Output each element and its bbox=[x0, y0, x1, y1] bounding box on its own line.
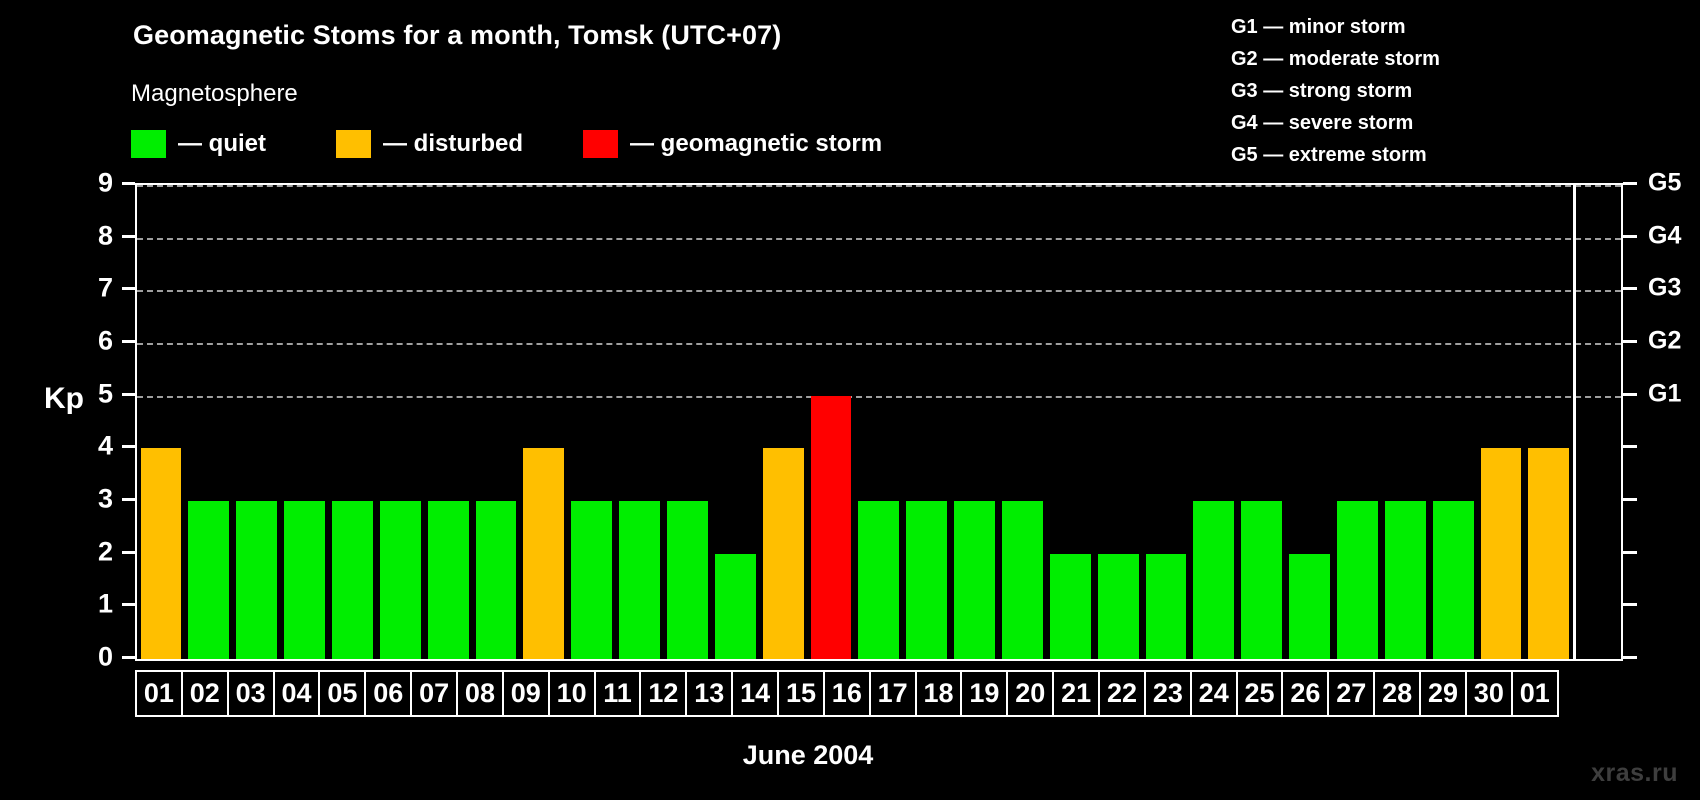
y-tick-mark-5 bbox=[122, 393, 135, 396]
date-cell-16-15[interactable]: 16 bbox=[823, 670, 871, 717]
date-cell-22-21[interactable]: 22 bbox=[1098, 670, 1146, 717]
date-cell-28-27[interactable]: 28 bbox=[1373, 670, 1421, 717]
bar-day-10 bbox=[571, 501, 612, 659]
y-tick-label-5: 5 bbox=[98, 380, 113, 407]
bar-series bbox=[137, 185, 1621, 659]
bar-slot-day-13 bbox=[711, 185, 759, 659]
date-cell-20-19[interactable]: 20 bbox=[1006, 670, 1054, 717]
date-axis: 0102030405060708091011121314151617181920… bbox=[135, 670, 1623, 717]
bar-slot-day-07 bbox=[424, 185, 472, 659]
bar-day-14 bbox=[763, 448, 804, 659]
g-axis-label-G3: G3 bbox=[1648, 276, 1681, 301]
date-cell-07-6[interactable]: 07 bbox=[410, 670, 458, 717]
date-cell-18-17[interactable]: 18 bbox=[915, 670, 963, 717]
chart-plot-area bbox=[135, 183, 1623, 661]
gscale-line-1: G1 — minor storm bbox=[1231, 11, 1440, 43]
y-tick-label-4: 4 bbox=[98, 433, 113, 460]
y-tick-label-7: 7 bbox=[98, 275, 113, 302]
bar-slot-day-30 bbox=[1525, 185, 1573, 659]
g-axis-tick-kp-6 bbox=[1623, 340, 1637, 343]
bar-day-13 bbox=[715, 554, 756, 659]
g-axis-label-G5: G5 bbox=[1648, 171, 1681, 196]
bar-day-22 bbox=[1146, 554, 1187, 659]
bar-slot-day-10 bbox=[568, 185, 616, 659]
bar-slot-day-23 bbox=[1190, 185, 1238, 659]
bar-day-27 bbox=[1385, 501, 1426, 659]
bar-day-29 bbox=[1481, 448, 1522, 659]
bar-slot-day-17 bbox=[903, 185, 951, 659]
bar-slot-day-02 bbox=[185, 185, 233, 659]
g-scale-axis: G1G2G3G4G5 bbox=[1623, 183, 1700, 661]
bar-day-28 bbox=[1433, 501, 1474, 659]
bar-slot-day-14 bbox=[759, 185, 807, 659]
date-cell-01-30[interactable]: 01 bbox=[1511, 670, 1559, 717]
bar-day-03 bbox=[236, 501, 277, 659]
g-axis-label-G1: G1 bbox=[1648, 381, 1681, 406]
date-cell-13-12[interactable]: 13 bbox=[685, 670, 733, 717]
bar-slot-day-01 bbox=[137, 185, 185, 659]
bar-slot-day-25 bbox=[1286, 185, 1334, 659]
date-cell-10-9[interactable]: 10 bbox=[548, 670, 596, 717]
date-cell-17-16[interactable]: 17 bbox=[869, 670, 917, 717]
bar-day-04 bbox=[284, 501, 325, 659]
plot-inner bbox=[137, 185, 1621, 659]
g-axis-tick-kp-1 bbox=[1623, 603, 1637, 606]
legend-swatch-storm bbox=[583, 130, 618, 158]
bar-slot-day-19 bbox=[998, 185, 1046, 659]
y-tick-mark-2 bbox=[122, 551, 135, 554]
date-cell-30-29[interactable]: 30 bbox=[1465, 670, 1513, 717]
y-tick-mark-8 bbox=[122, 235, 135, 238]
bar-day-07 bbox=[428, 501, 469, 659]
legend-label-disturbed: — disturbed bbox=[383, 130, 523, 158]
g-axis-tick-kp-5 bbox=[1623, 393, 1637, 396]
date-cell-27-26[interactable]: 27 bbox=[1327, 670, 1375, 717]
g-axis-tick-kp-3 bbox=[1623, 498, 1637, 501]
g-axis-label-G2: G2 bbox=[1648, 329, 1681, 354]
y-tick-label-0: 0 bbox=[98, 644, 113, 671]
bar-slot-day-26 bbox=[1333, 185, 1381, 659]
y-tick-label-3: 3 bbox=[98, 486, 113, 513]
y-tick-mark-6 bbox=[122, 340, 135, 343]
gscale-line-5: G5 — extreme storm bbox=[1231, 139, 1440, 171]
bar-day-12 bbox=[667, 501, 708, 659]
y-axis: 0123456789 bbox=[60, 183, 135, 661]
bar-day-15 bbox=[811, 396, 852, 659]
date-cell-29-28[interactable]: 29 bbox=[1419, 670, 1467, 717]
y-tick-mark-0 bbox=[122, 656, 135, 659]
legend-swatch-quiet bbox=[131, 130, 166, 158]
bar-day-02 bbox=[188, 501, 229, 659]
bar-day-30 bbox=[1528, 448, 1569, 659]
bar-day-11 bbox=[619, 501, 660, 659]
bar-day-05 bbox=[332, 501, 373, 659]
bar-day-21 bbox=[1098, 554, 1139, 659]
bar-day-06 bbox=[380, 501, 421, 659]
bar-day-01 bbox=[141, 448, 182, 659]
legend-label-storm: — geomagnetic storm bbox=[630, 130, 882, 158]
date-cell-23-22[interactable]: 23 bbox=[1144, 670, 1192, 717]
gscale-line-2: G2 — moderate storm bbox=[1231, 43, 1440, 75]
y-tick-label-6: 6 bbox=[98, 328, 113, 355]
y-tick-mark-9 bbox=[122, 182, 135, 185]
bar-slot-day-09 bbox=[520, 185, 568, 659]
legend-swatch-disturbed bbox=[336, 130, 371, 158]
bar-slot-day-06 bbox=[376, 185, 424, 659]
date-cell-21-20[interactable]: 21 bbox=[1052, 670, 1100, 717]
date-cell-06-5[interactable]: 06 bbox=[364, 670, 412, 717]
bar-day-25 bbox=[1289, 554, 1330, 659]
date-cell-08-7[interactable]: 08 bbox=[456, 670, 504, 717]
y-tick-label-2: 2 bbox=[98, 538, 113, 565]
date-cell-26-25[interactable]: 26 bbox=[1281, 670, 1329, 717]
bar-slot-day-05 bbox=[328, 185, 376, 659]
date-cell-24-23[interactable]: 24 bbox=[1190, 670, 1238, 717]
y-axis-title: Kp bbox=[44, 382, 84, 416]
gscale-line-3: G3 — strong storm bbox=[1231, 75, 1440, 107]
date-cell-04-3[interactable]: 04 bbox=[273, 670, 321, 717]
watermark: xras.ru bbox=[1591, 759, 1678, 788]
magnetosphere-label: Magnetosphere bbox=[131, 80, 298, 108]
y-tick-mark-7 bbox=[122, 287, 135, 290]
x-axis-title-text: June 2004 bbox=[743, 740, 874, 770]
bar-slot-day-16 bbox=[855, 185, 903, 659]
legend: — quiet— disturbed— geomagnetic storm bbox=[131, 130, 882, 158]
y-tick-label-9: 9 bbox=[98, 170, 113, 197]
date-cell-14-13[interactable]: 14 bbox=[731, 670, 779, 717]
date-cell-09-8[interactable]: 09 bbox=[502, 670, 550, 717]
page-title: Geomagnetic Stoms for a month, Tomsk (UT… bbox=[133, 20, 781, 51]
date-cell-25-24[interactable]: 25 bbox=[1236, 670, 1284, 717]
g-axis-tick-kp-9 bbox=[1623, 182, 1637, 185]
g-axis-tick-kp-0 bbox=[1623, 656, 1637, 659]
y-tick-label-1: 1 bbox=[98, 591, 113, 618]
y-tick-label-8: 8 bbox=[98, 222, 113, 249]
bar-day-23 bbox=[1193, 501, 1234, 659]
y-tick-mark-4 bbox=[122, 445, 135, 448]
bar-day-08 bbox=[476, 501, 517, 659]
bar-slot-day-24 bbox=[1238, 185, 1286, 659]
bar-slot-day-27 bbox=[1381, 185, 1429, 659]
y-tick-mark-1 bbox=[122, 603, 135, 606]
date-cell-11-10[interactable]: 11 bbox=[594, 670, 642, 717]
bar-slot-day-21 bbox=[1094, 185, 1142, 659]
bar-day-20 bbox=[1050, 554, 1091, 659]
g-axis-tick-kp-7 bbox=[1623, 287, 1637, 290]
bar-slot-day-20 bbox=[1046, 185, 1094, 659]
legend-label-quiet: — quiet bbox=[178, 130, 266, 158]
gscale-line-4: G4 — severe storm bbox=[1231, 107, 1440, 139]
bar-slot-day-01 bbox=[1573, 185, 1621, 659]
bar-day-17 bbox=[906, 501, 947, 659]
y-tick-mark-3 bbox=[122, 498, 135, 501]
bar-slot-day-28 bbox=[1429, 185, 1477, 659]
bar-day-24 bbox=[1241, 501, 1282, 659]
g-axis-tick-kp-4 bbox=[1623, 445, 1637, 448]
bar-day-16 bbox=[858, 501, 899, 659]
bar-slot-day-18 bbox=[951, 185, 999, 659]
bar-slot-day-22 bbox=[1142, 185, 1190, 659]
g-axis-label-G4: G4 bbox=[1648, 223, 1681, 248]
legend-item-disturbed: — disturbed bbox=[336, 130, 523, 158]
date-cell-02-1[interactable]: 02 bbox=[181, 670, 229, 717]
date-cell-01-0[interactable]: 01 bbox=[135, 670, 183, 717]
month-separator-line bbox=[1573, 185, 1576, 659]
bar-day-18 bbox=[954, 501, 995, 659]
bar-slot-day-11 bbox=[616, 185, 664, 659]
bar-slot-day-29 bbox=[1477, 185, 1525, 659]
bar-slot-day-04 bbox=[281, 185, 329, 659]
g-axis-tick-kp-2 bbox=[1623, 551, 1637, 554]
bar-slot-day-15 bbox=[807, 185, 855, 659]
bar-slot-day-08 bbox=[472, 185, 520, 659]
date-cell-15-14[interactable]: 15 bbox=[777, 670, 825, 717]
bar-day-26 bbox=[1337, 501, 1378, 659]
date-cell-03-2[interactable]: 03 bbox=[227, 670, 275, 717]
date-cell-19-18[interactable]: 19 bbox=[960, 670, 1008, 717]
legend-item-quiet: — quiet bbox=[131, 130, 266, 158]
g-axis-tick-kp-8 bbox=[1623, 235, 1637, 238]
bar-slot-day-03 bbox=[233, 185, 281, 659]
bar-slot-day-12 bbox=[663, 185, 711, 659]
legend-item-storm: — geomagnetic storm bbox=[583, 130, 882, 158]
date-cell-12-11[interactable]: 12 bbox=[639, 670, 687, 717]
date-cell-05-4[interactable]: 05 bbox=[318, 670, 366, 717]
bar-day-19 bbox=[1002, 501, 1043, 659]
gscale-legend: G1 — minor stormG2 — moderate stormG3 — … bbox=[1231, 11, 1440, 171]
bar-day-09 bbox=[523, 448, 564, 659]
x-axis-title: June 2004 bbox=[0, 740, 1700, 771]
